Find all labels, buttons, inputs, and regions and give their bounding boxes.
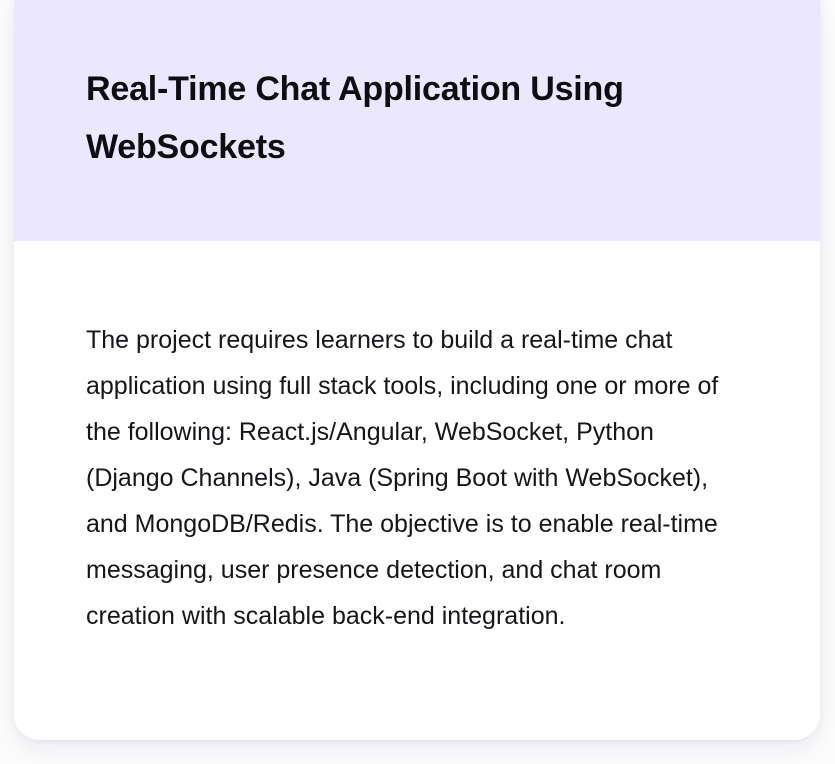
card-description: The project requires learners to build a…	[86, 317, 746, 639]
page-background: Real-Time Chat Application Using WebSock…	[0, 0, 835, 764]
project-card: Real-Time Chat Application Using WebSock…	[14, 0, 820, 740]
card-title: Real-Time Chat Application Using WebSock…	[86, 60, 726, 176]
card-header: Real-Time Chat Application Using WebSock…	[14, 0, 820, 241]
card-body: The project requires learners to build a…	[14, 241, 820, 639]
